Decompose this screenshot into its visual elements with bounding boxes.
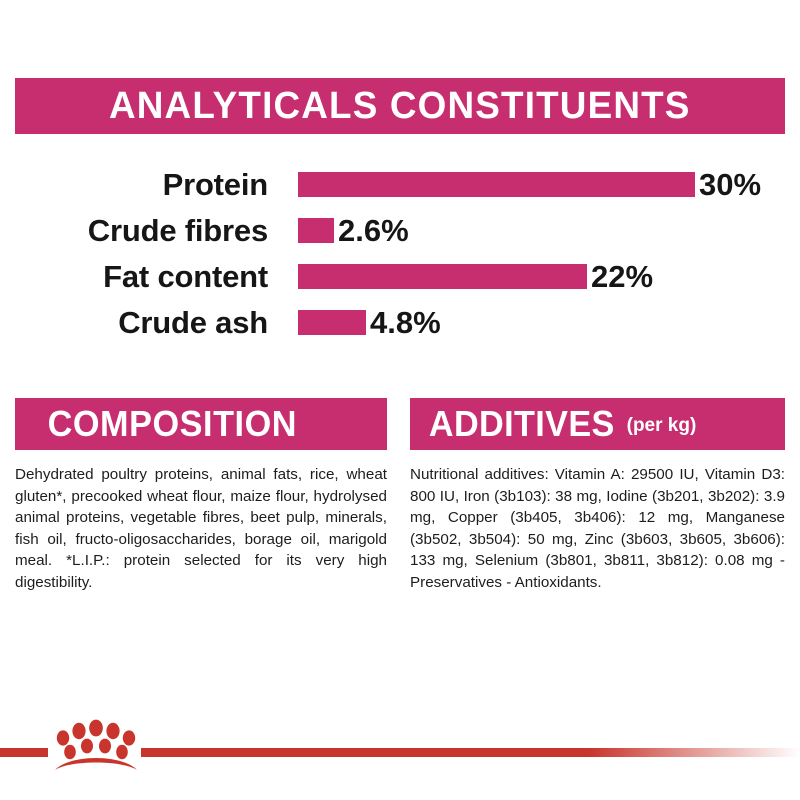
chart-row-label: Fat content — [0, 261, 268, 292]
chart-bar-group: 4.8% — [298, 307, 441, 338]
chart-bar-group: 2.6% — [298, 215, 409, 246]
chart-bar-value: 2.6% — [338, 215, 409, 246]
additives-body-text: Nutritional additives: Vitamin A: 29500 … — [410, 464, 785, 593]
chart-row-label: Crude fibres — [0, 215, 268, 246]
additives-unit-note: (per kg) — [627, 415, 697, 437]
composition-title: COMPOSITION — [48, 406, 297, 442]
chart-bar-group: 22% — [298, 261, 653, 292]
chart-bar-value: 4.8% — [370, 307, 441, 338]
chart-bar-value: 30% — [699, 169, 761, 200]
chart-bar-group: 30% — [298, 169, 761, 200]
chart-row: Crude fibres2.6% — [0, 207, 800, 253]
royal-canin-crown-paw-logo — [52, 714, 140, 776]
nutrition-panel: ANALYTICALS CONSTITUENTS Protein30%Crude… — [0, 0, 800, 800]
brand-rule-right — [141, 748, 800, 757]
analyticals-title: ANALYTICALS CONSTITUENTS — [109, 87, 691, 125]
chart-row: Fat content22% — [0, 253, 800, 299]
chart-row: Protein30% — [0, 161, 800, 207]
chart-bar — [298, 218, 334, 243]
composition-body-text: Dehydrated poultry proteins, animal fats… — [15, 464, 387, 593]
chart-bar — [298, 310, 366, 335]
chart-row: Crude ash4.8% — [0, 299, 800, 345]
analyticals-bar-chart: Protein30%Crude fibres2.6%Fat content22%… — [0, 150, 800, 350]
composition-header-band: COMPOSITION — [15, 398, 387, 450]
chart-bar-value: 22% — [591, 261, 653, 292]
brand-rule-left — [0, 748, 48, 757]
chart-row-label: Crude ash — [0, 307, 268, 338]
additives-header-band: ADDITIVES (per kg) — [410, 398, 785, 450]
chart-bar — [298, 172, 695, 197]
additives-title: ADDITIVES — [429, 406, 615, 442]
chart-bar — [298, 264, 587, 289]
analyticals-header-band: ANALYTICALS CONSTITUENTS — [15, 78, 785, 134]
chart-row-label: Protein — [0, 169, 268, 200]
